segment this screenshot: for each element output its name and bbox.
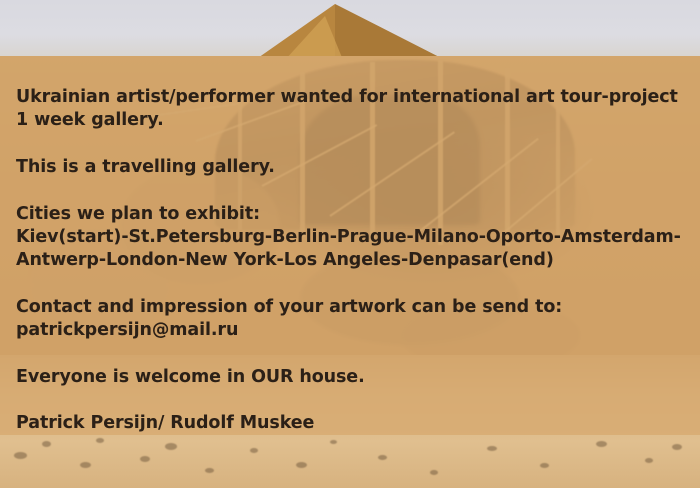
paragraph-signature: Patrick Persijn/ Rudolf Muskee [16,412,700,435]
paragraph-headline: Ukrainian artist/performer wanted for in… [16,86,700,132]
ground-pebble [42,441,51,447]
sand-dune-highlight [285,16,343,60]
paragraph-contact: Contact and impression of your artwork c… [16,296,700,342]
contact-instruction: Contact and impression of your artwork c… [16,296,700,319]
travelling-gallery-line: This is a travelling gallery. [16,156,700,179]
ground-pebble [296,462,307,468]
poster-image: Ukrainian artist/performer wanted for in… [0,0,700,488]
poster-text-layer: Ukrainian artist/performer wanted for in… [0,56,700,435]
ground-pebble [250,448,258,453]
ground-pebble [96,438,104,443]
ground-pebble [645,458,653,463]
signature-line: Patrick Persijn/ Rudolf Muskee [16,412,700,435]
ground-pebble [14,452,27,459]
cities-heading: Cities we plan to exhibit: [16,203,700,226]
ground-pebble [165,443,177,450]
ground-pebble [80,462,91,468]
ground-pebble [140,456,150,462]
sand-dune-shadow [335,4,445,60]
ground-pebble [672,444,682,450]
cities-route-line-1: Kiev(start)-St.Petersburg-Berlin-Prague-… [16,226,700,249]
ground-pebble [596,441,607,447]
ground-pebble [378,455,387,460]
paragraph-travelling-gallery: This is a travelling gallery. [16,156,700,179]
contact-email[interactable]: patrickpersijn@mail.ru [16,319,700,342]
ground-pebble [430,470,438,475]
ground-pebble [330,440,337,444]
headline-line-1: Ukrainian artist/performer wanted for in… [16,86,700,109]
paragraph-cities: Cities we plan to exhibit: Kiev(start)-S… [16,203,700,272]
welcome-line: Everyone is welcome in OUR house. [16,366,700,389]
ground-pebble [205,468,214,473]
headline-line-2: 1 week gallery. [16,109,700,132]
ground-pebble [540,463,549,468]
cities-route-line-2: Antwerp-London-New York-Los Angeles-Denp… [16,249,700,272]
ground-pebble [487,446,497,451]
paragraph-welcome: Everyone is welcome in OUR house. [16,366,700,389]
